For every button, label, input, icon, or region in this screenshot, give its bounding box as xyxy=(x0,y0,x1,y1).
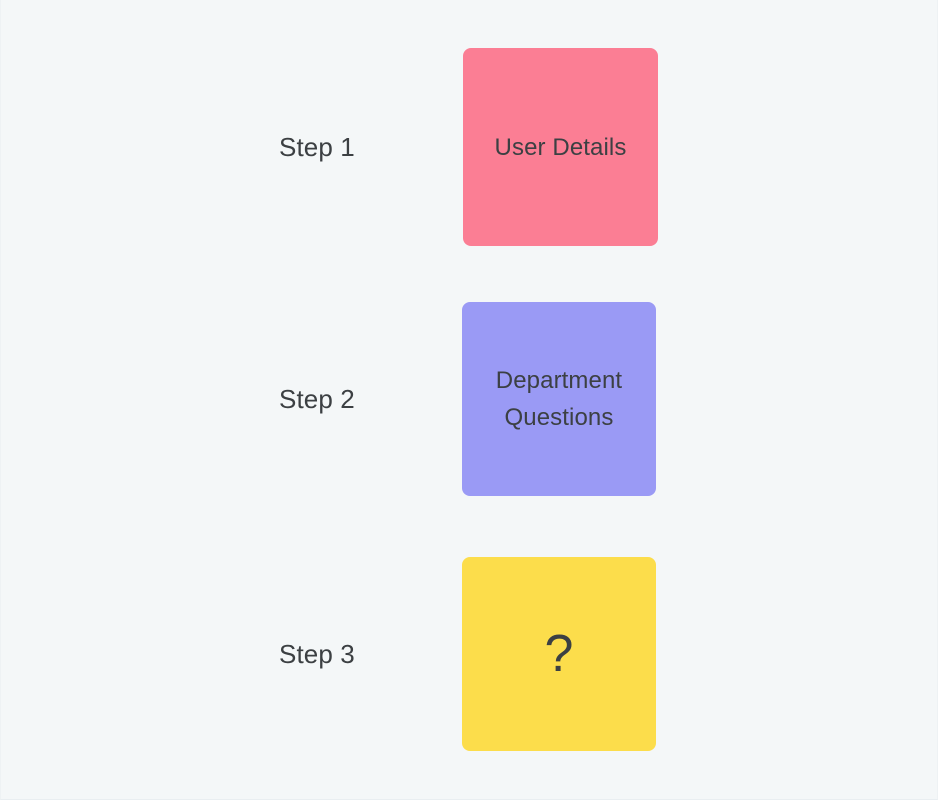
step-card-user-details[interactable]: User Details xyxy=(463,48,658,246)
step-card-department-questions[interactable]: Department Questions xyxy=(462,302,656,496)
wizard-step-3: Step 3 ? xyxy=(1,557,938,751)
step-wizard: Step 1 User Details Step 2 Department Qu… xyxy=(1,0,938,800)
step-card-unknown[interactable]: ? xyxy=(462,557,656,751)
page-root: Step 1 User Details Step 2 Department Qu… xyxy=(0,0,938,800)
step-card-1-text: User Details xyxy=(495,129,627,166)
step-label-1: Step 1 xyxy=(279,132,449,162)
question-mark-icon: ? xyxy=(544,626,573,682)
step-card-2-text: Department Questions xyxy=(476,362,642,436)
wizard-step-2: Step 2 Department Questions xyxy=(1,302,938,496)
step-label-3: Step 3 xyxy=(279,639,449,669)
wizard-step-1: Step 1 User Details xyxy=(1,48,938,246)
step-label-2: Step 2 xyxy=(279,384,449,414)
